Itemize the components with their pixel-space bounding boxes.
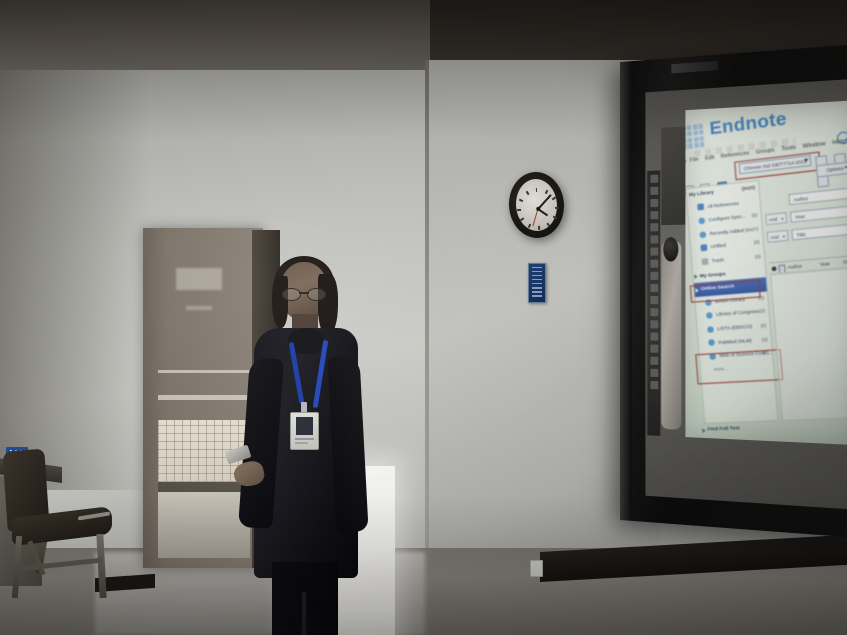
id-badge [290, 412, 319, 450]
recent-icon [699, 231, 706, 238]
corridor-ceiling-edge [186, 306, 212, 310]
annotation-box-databases [695, 349, 783, 384]
presenter [238, 262, 368, 635]
search-operator-2[interactable]: And [767, 230, 789, 243]
results-list[interactable] [770, 265, 847, 421]
endnote-app-icon [685, 159, 686, 164]
board-dark-panel [661, 126, 687, 225]
photo-scene: Endnote File Edit References Groups Tool… [0, 0, 847, 635]
smartboard[interactable]: Endnote File Edit References Groups Tool… [620, 44, 847, 538]
board-brand-label [671, 61, 718, 74]
wall-left-shadow [0, 70, 150, 490]
search-operator-1[interactable]: And [765, 212, 787, 225]
clock-tick [517, 209, 521, 211]
board-tool-icon[interactable] [650, 345, 658, 353]
board-tool-icon[interactable] [650, 187, 658, 195]
menu-item-tools[interactable]: Tools [781, 144, 796, 152]
corridor-rail [158, 395, 250, 400]
clock-tick [553, 216, 557, 219]
board-tool-icon[interactable] [650, 260, 658, 268]
board-tool-icon[interactable] [650, 199, 658, 207]
board-tool-icon[interactable] [650, 235, 658, 243]
endnote-window: Endnote File Edit References Groups Tool… [685, 100, 847, 445]
clock-tick [545, 190, 548, 194]
board-tool-strip[interactable] [646, 170, 660, 435]
references-icon [697, 204, 704, 211]
clock-tick [518, 199, 522, 202]
board-tool-icon[interactable] [650, 272, 658, 280]
menu-item-window[interactable]: Window [802, 141, 825, 150]
clock-tick [528, 224, 531, 228]
find-full-text-section[interactable]: Find Full Text [707, 425, 740, 432]
wall-outlet [530, 560, 543, 577]
board-tool-icon[interactable] [650, 296, 658, 304]
corridor-wall-band [158, 482, 250, 492]
glasses-bridge [299, 292, 309, 294]
board-tool-icon[interactable] [650, 357, 658, 365]
board-tool-icon[interactable] [650, 284, 658, 292]
board-tool-icon[interactable] [650, 308, 658, 316]
hair-right [318, 274, 338, 336]
menu-item-groups[interactable]: Groups [756, 147, 775, 156]
board-knob[interactable] [663, 237, 678, 262]
search-field-author[interactable]: Author [788, 187, 847, 205]
board-pen-tray[interactable] [661, 241, 681, 430]
endnote-logo-grid-icon [685, 123, 704, 149]
database-icon [707, 326, 714, 333]
clock-center-pin [536, 207, 540, 211]
badge-line [295, 442, 308, 444]
wall-sign [528, 263, 546, 303]
menu-item-edit[interactable]: Edit [705, 154, 715, 162]
board-left-bezel [620, 61, 632, 521]
board-tool-icon[interactable] [650, 381, 658, 389]
menu-item-file[interactable]: File [690, 156, 699, 163]
board-tool-icon[interactable] [650, 320, 658, 328]
clock-tick [525, 191, 528, 195]
clock-tick [555, 207, 559, 209]
board-tool-icon[interactable] [650, 369, 658, 377]
clock-tick [552, 197, 556, 200]
wall-corner-seam [425, 60, 429, 590]
attachment-dot-icon [772, 266, 776, 270]
clock-face [514, 178, 559, 233]
hair-left [272, 276, 288, 328]
board-tool-icon[interactable] [650, 247, 658, 255]
board-tool-icon[interactable] [650, 223, 658, 231]
board-tool-icon[interactable] [650, 175, 658, 183]
corridor-ceiling [176, 268, 222, 290]
folder-icon [700, 244, 707, 251]
search-icon[interactable] [837, 131, 847, 145]
database-icon [708, 339, 715, 346]
projected-screen: Endnote File Edit References Groups Tool… [685, 100, 847, 445]
sync-icon [698, 217, 705, 224]
clock-tick [535, 188, 537, 192]
corridor-floor [158, 492, 250, 558]
search-field-year[interactable]: Year [790, 205, 847, 223]
clock-tick [520, 218, 524, 221]
board-tool-icon[interactable] [650, 332, 658, 340]
corridor-rail-upper [158, 370, 250, 373]
board-tool-icon[interactable] [650, 211, 658, 219]
endnote-logo-text: Endnote [709, 108, 788, 140]
clock-tick [547, 223, 550, 227]
trash-icon [702, 258, 709, 265]
database-icon [706, 312, 713, 319]
clock-second-hand [532, 209, 538, 227]
leg-split [302, 592, 306, 635]
search-field-title[interactable]: Title [791, 223, 847, 241]
badge-photo [296, 417, 313, 435]
clock-tick [538, 226, 540, 230]
badge-line [295, 438, 314, 440]
